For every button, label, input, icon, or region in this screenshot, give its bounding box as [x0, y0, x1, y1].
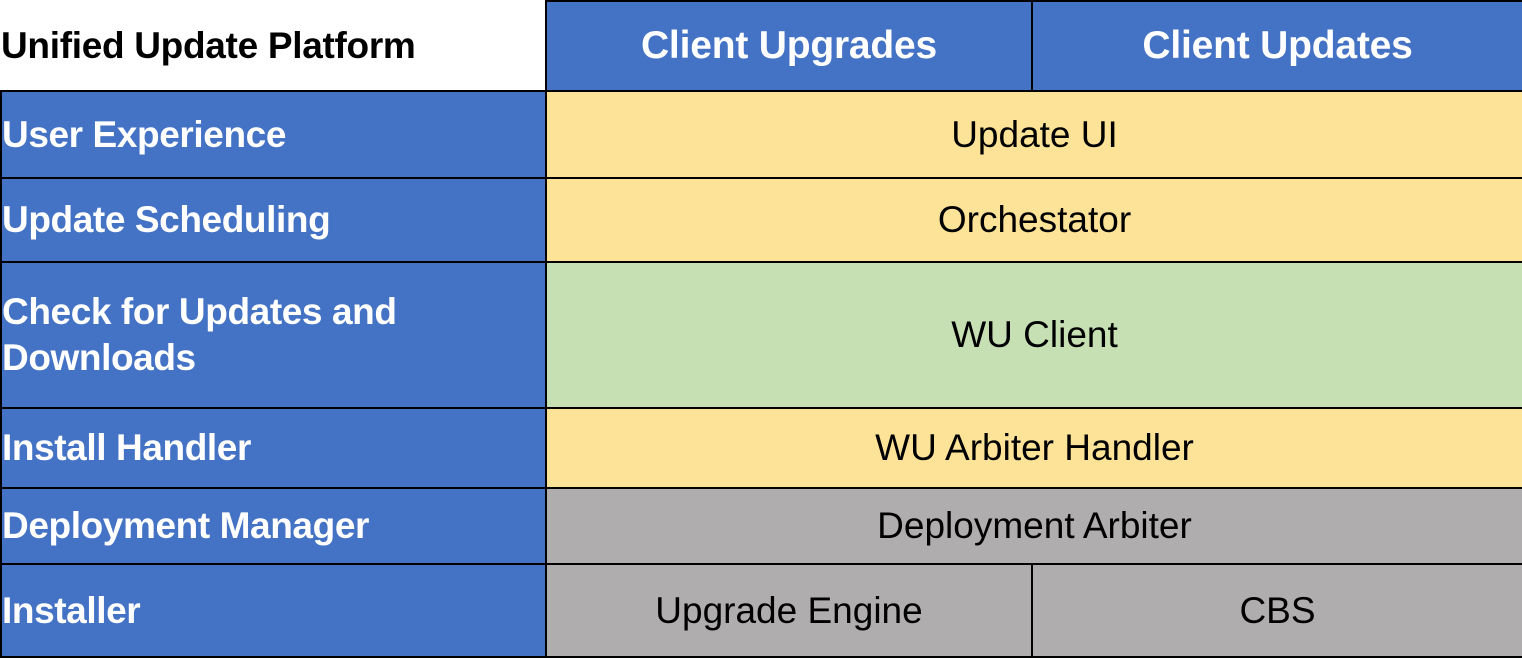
- cell-text: WU Arbiter Handler: [875, 427, 1194, 468]
- column-header-label: Client Updates: [1142, 24, 1412, 67]
- cell-check-for-updates-wu-client: WU Client: [546, 262, 1522, 408]
- table-header-row: Unified Update Platform Client Upgrades …: [1, 1, 1522, 91]
- row-label-text: User Experience: [2, 112, 545, 158]
- column-header-client-updates: Client Updates: [1032, 1, 1522, 91]
- unified-update-platform-table: Unified Update Platform Client Upgrades …: [0, 0, 1522, 658]
- table-row: Deployment Manager Deployment Arbiter: [1, 488, 1522, 564]
- cell-text: Upgrade Engine: [655, 590, 922, 631]
- page-title: Unified Update Platform: [1, 25, 416, 66]
- cell-text: Update UI: [951, 114, 1118, 155]
- row-label-install-handler: Install Handler: [1, 408, 546, 488]
- cell-text: Deployment Arbiter: [877, 505, 1192, 546]
- cell-user-experience-update-ui: Update UI: [546, 91, 1522, 178]
- row-label-text: Update Scheduling: [2, 197, 545, 243]
- row-label-text: Deployment Manager: [2, 503, 545, 549]
- cell-installer-upgrade-engine: Upgrade Engine: [546, 564, 1032, 657]
- corner-title-cell: Unified Update Platform: [1, 1, 546, 91]
- table-row: Check for Updates and Downloads WU Clien…: [1, 262, 1522, 408]
- cell-install-handler-wu-arbiter-handler: WU Arbiter Handler: [546, 408, 1522, 488]
- row-label-user-experience: User Experience: [1, 91, 546, 178]
- row-label-text: Check for Updates and Downloads: [2, 289, 545, 381]
- cell-text: WU Client: [951, 314, 1118, 355]
- cell-update-scheduling-orchestator: Orchestator: [546, 178, 1522, 262]
- column-header-label: Client Upgrades: [641, 24, 937, 67]
- table-row: User Experience Update UI: [1, 91, 1522, 178]
- row-label-deployment-manager: Deployment Manager: [1, 488, 546, 564]
- row-label-text: Installer: [2, 588, 545, 634]
- column-header-client-upgrades: Client Upgrades: [546, 1, 1032, 91]
- row-label-installer: Installer: [1, 564, 546, 657]
- cell-text: CBS: [1239, 590, 1315, 631]
- cell-deployment-manager-deployment-arbiter: Deployment Arbiter: [546, 488, 1522, 564]
- table-row: Update Scheduling Orchestator: [1, 178, 1522, 262]
- row-label-check-for-updates-and-downloads: Check for Updates and Downloads: [1, 262, 546, 408]
- cell-installer-cbs: CBS: [1032, 564, 1522, 657]
- cell-text: Orchestator: [938, 199, 1131, 240]
- row-label-text: Install Handler: [2, 425, 545, 471]
- row-label-update-scheduling: Update Scheduling: [1, 178, 546, 262]
- table-row: Install Handler WU Arbiter Handler: [1, 408, 1522, 488]
- table-row: Installer Upgrade Engine CBS: [1, 564, 1522, 657]
